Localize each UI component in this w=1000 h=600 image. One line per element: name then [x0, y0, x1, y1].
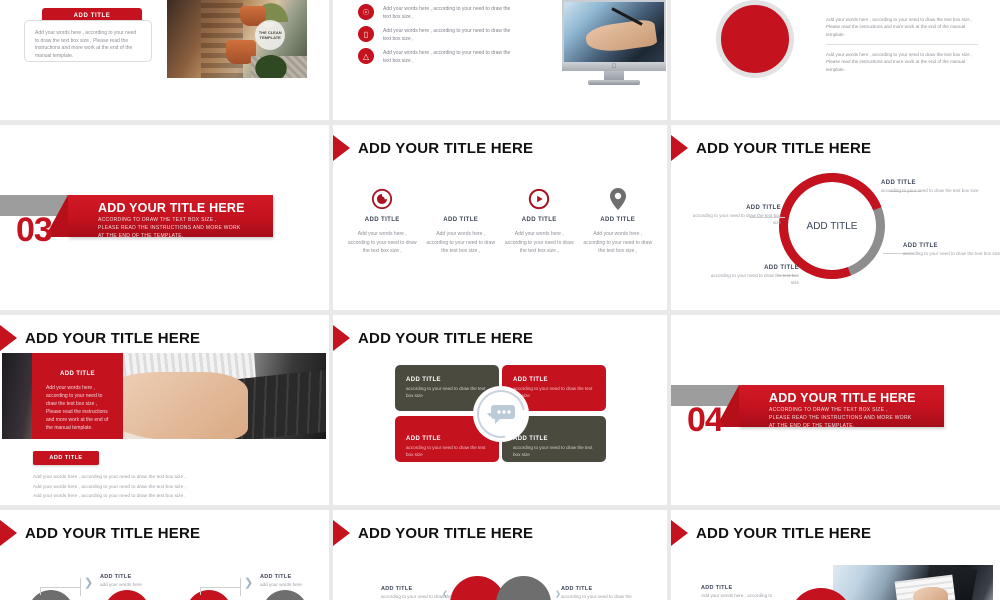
connector-drop-2	[200, 587, 201, 595]
slide-heading: ADD YOUR TITLE HERE	[333, 325, 533, 351]
feature-title-3: ADD TITLE	[522, 217, 557, 223]
feature-body-2: Add your words here , according to your …	[426, 230, 497, 256]
callout-title: ADD TITLE	[689, 205, 781, 211]
center-hub	[473, 386, 529, 442]
globe-icon	[371, 185, 393, 213]
left-caption: ADD TITLE according to your need to draw…	[381, 586, 459, 600]
right-caption: ADD TITLE according to your need to draw…	[561, 586, 639, 600]
step-node-2	[104, 590, 150, 600]
callout-left: ADD TITLE according to your need to draw…	[689, 205, 781, 227]
box-title: ADD TITLE	[513, 436, 595, 442]
slide-thumbnail-r4c1[interactable]: ADD YOUR TITLE HERE ❯ ADD TITLE add your…	[0, 510, 329, 600]
red-triangle-icon	[671, 135, 688, 161]
box-body: according to your need to draw the text …	[513, 386, 595, 400]
feature-column-4: ADD TITLE Add your words here , accordin…	[579, 185, 658, 256]
add-title-button[interactable]: ADD TITLE	[33, 451, 99, 465]
slide-thumbnail-r3c1[interactable]: ADD YOUR TITLE HERE ADD TITLE Add your w…	[0, 315, 329, 505]
callout-bottom-left: ADD TITLE according to your need to draw…	[707, 265, 799, 287]
box-title: ADD TITLE	[513, 377, 595, 383]
bullet-item-3: △ Add your words here , according to you…	[358, 48, 515, 65]
step-caption-1: ADD TITLE add your words here	[100, 574, 180, 589]
cloud-icon: △	[358, 48, 374, 64]
slide-thumbnail-r4c3[interactable]: ADD YOUR TITLE HERE ADD TITLE Add your w…	[671, 510, 1000, 600]
red-triangle-icon	[0, 325, 17, 351]
slide-heading: ADD YOUR TITLE HERE	[0, 325, 200, 351]
slide-thumbnail-r1c2[interactable]: ☉ Add your words here , according to you…	[333, 0, 667, 120]
feature-title-1: ADD TITLE	[365, 217, 400, 223]
connector-riser-2	[240, 578, 241, 596]
step-node-1	[28, 590, 74, 600]
quadrant-diagram: ADD TITLE according to your need to draw…	[395, 365, 606, 462]
step-node-3	[186, 590, 232, 600]
heading-text: ADD YOUR TITLE HERE	[25, 525, 200, 542]
red-triangle-icon	[0, 520, 17, 546]
box-title: ADD TITLE	[406, 436, 488, 442]
map-pin-icon	[608, 185, 628, 213]
connector-drop-1	[40, 587, 41, 595]
heading-text: ADD YOUR TITLE HERE	[358, 330, 533, 347]
paragraph-2: Add your words here , according to your …	[826, 51, 978, 73]
slide-thumbnail-r3c2[interactable]: ADD YOUR TITLE HERE ADD TITLE according …	[333, 315, 667, 505]
slide-thumbnail-r2c2[interactable]: ADD YOUR TITLE HERE ADD TITLE Add your w…	[333, 125, 667, 310]
feature-column-1: ADD TITLE Add your words here , accordin…	[343, 185, 422, 256]
callout-body: according to your need to draw the text …	[881, 188, 981, 195]
monitor-screen	[562, 0, 666, 62]
slide-heading: ADD YOUR TITLE HERE	[671, 135, 871, 161]
callout-title: ADD TITLE	[903, 243, 1000, 249]
right-body: according to your need to draw the text …	[561, 594, 639, 600]
left-title: ADD TITLE	[381, 586, 459, 592]
ring-diagram: ADD TITLE	[779, 173, 885, 279]
slide-thumbnail-grid: ADD TITLE Add your words here , accordin…	[0, 0, 1000, 600]
red-triangle-icon	[333, 325, 350, 351]
slide-thumbnail-r2c1[interactable]: ADD YOUR TITLE HERE ACCORDING TO DRAW TH…	[0, 125, 329, 310]
slide-thumbnail-r1c1[interactable]: ADD TITLE Add your words here , accordin…	[0, 0, 329, 120]
callout-top-right: ADD TITLE according to your need to draw…	[881, 180, 981, 195]
left-body: according to your need to draw the text …	[381, 594, 459, 600]
mobile-phone-icon: ▯	[358, 26, 374, 42]
box-body: according to your need to draw the text …	[513, 445, 595, 459]
monitor-chin: 	[562, 62, 666, 71]
connector-line-1	[40, 587, 80, 588]
callout-right: ADD TITLE according to your need to draw…	[903, 243, 1000, 258]
callout-title: ADD TITLE	[707, 265, 799, 271]
red-banner: ADD YOUR TITLE HERE ACCORDING TO DRAW TH…	[68, 195, 273, 237]
section-banner: ADD YOUR TITLE HERE ACCORDING TO DRAW TH…	[671, 375, 1000, 437]
connector-riser-1	[80, 578, 81, 596]
location-pin-icon: ☉	[358, 4, 374, 20]
text-block: ADD TITLE Add your words here , accordin…	[701, 585, 811, 600]
box-body: according to your need to draw the text …	[406, 445, 488, 459]
big-circle-right	[496, 576, 551, 600]
box-body: according to your need to draw the text …	[406, 386, 488, 400]
heading-text: ADD YOUR TITLE HERE	[696, 525, 871, 542]
feature-title-4: ADD TITLE	[600, 217, 635, 223]
feature-body-4: Add your words here , according to your …	[583, 230, 654, 256]
photo-watermark-badge: THE CLEAN TEMPLATE	[255, 20, 285, 50]
paragraph-1: Add your words here , according to your …	[826, 16, 978, 38]
callout-body: according to your need to draw the text …	[707, 273, 799, 287]
banner-subtitle: ACCORDING TO DRAW THE TEXT BOX SIZE , PL…	[98, 217, 241, 240]
red-overlay-card: ADD TITLE Add your words here , accordin…	[32, 353, 123, 439]
heading-text: ADD YOUR TITLE HERE	[25, 330, 200, 347]
slide-heading: ADD YOUR TITLE HERE	[0, 520, 200, 546]
section-banner: ADD YOUR TITLE HERE ACCORDING TO DRAW TH…	[0, 185, 329, 247]
feature-body-1: Add your words here , according to your …	[347, 230, 418, 256]
step-body-1: add your words here	[100, 582, 180, 589]
heading-text: ADD YOUR TITLE HERE	[696, 140, 871, 157]
block-body: Add your words here , according to	[701, 593, 811, 600]
hand-with-pen	[913, 587, 948, 600]
bullet-item-1: ☉ Add your words here , according to you…	[358, 4, 515, 21]
imac-mockup: 	[562, 0, 666, 86]
step-node-4	[262, 590, 308, 600]
callout-body: according to your need to draw the text …	[903, 251, 1000, 258]
heading-text: ADD YOUR TITLE HERE	[358, 140, 533, 157]
heading-text: ADD YOUR TITLE HERE	[358, 525, 533, 542]
red-triangle-icon	[333, 520, 350, 546]
overlay-title: ADD TITLE	[46, 371, 109, 377]
section-number: 04	[687, 401, 723, 440]
chevron-right-icon: ❯	[244, 576, 253, 589]
business-meeting-photo	[833, 565, 993, 600]
box-title: ADD TITLE	[406, 377, 488, 383]
step-caption-2: ADD TITLE add your words here	[260, 574, 329, 589]
hand-writing	[584, 18, 657, 54]
feature-body-3: Add your words here , according to your …	[504, 230, 575, 256]
street-photo: THE CLEAN TEMPLATE	[167, 0, 307, 78]
slide-thumbnail-r3c3[interactable]: ADD YOUR TITLE HERE ACCORDING TO DRAW TH…	[671, 315, 1000, 505]
connector-line-2	[200, 587, 240, 588]
red-banner: ADD YOUR TITLE HERE ACCORDING TO DRAW TH…	[739, 385, 944, 427]
bullet-text-2: Add your words here , according to your …	[383, 26, 515, 43]
green-bush	[254, 54, 288, 78]
feature-column-2: ADD TITLE Add your words here , accordin…	[422, 185, 501, 256]
chevron-right-icon: ❯	[555, 590, 561, 598]
body-line-2: Add your words here , according to your …	[33, 483, 186, 493]
body-line-1: Add your words here , according to your …	[33, 473, 186, 483]
slide-heading: ADD YOUR TITLE HERE	[333, 135, 533, 161]
text-card: Add your words here , according to your …	[24, 20, 152, 62]
chevron-right-icon: ❯	[84, 576, 93, 589]
slide-thumbnail-r1c3[interactable]: Add your words here , according to your …	[671, 0, 1000, 120]
bullet-text-1: Add your words here , according to your …	[383, 4, 515, 21]
monitor-stand-neck	[604, 71, 624, 80]
paragraph-group: Add your words here , according to your …	[826, 16, 978, 73]
step-title-2: ADD TITLE	[260, 574, 329, 580]
feature-columns: ADD TITLE Add your words here , accordin…	[343, 185, 657, 256]
red-triangle-icon	[333, 135, 350, 161]
callout-title: ADD TITLE	[881, 180, 981, 186]
callout-body: according to your need to draw the text …	[689, 213, 781, 227]
divider	[826, 44, 978, 45]
red-circle-graphic	[716, 0, 794, 78]
step-body-2: add your words here	[260, 582, 329, 589]
step-title-1: ADD TITLE	[100, 574, 180, 580]
feature-title-2: ADD TITLE	[443, 217, 478, 223]
bullet-text-3: Add your words here , according to your …	[383, 48, 515, 65]
red-triangle-icon	[671, 520, 688, 546]
banner-subtitle: ACCORDING TO DRAW THE TEXT BOX SIZE , PL…	[769, 407, 912, 430]
overlay-body: Add your words here , according to your …	[46, 384, 109, 432]
bullet-item-2: ▯ Add your words here , according to you…	[358, 26, 515, 43]
banner-title: ADD YOUR TITLE HERE	[769, 391, 916, 405]
slide-heading: ADD YOUR TITLE HERE	[333, 520, 533, 546]
play-circle-icon	[528, 185, 550, 213]
feature-column-3: ADD TITLE Add your words here , accordin…	[500, 185, 579, 256]
slide-thumbnail-r2c3[interactable]: ADD YOUR TITLE HERE ADD TITLE ADD TITLE …	[671, 125, 1000, 310]
body-line-3: Add your words here , according to your …	[33, 492, 186, 502]
ring-center-label: ADD TITLE	[779, 173, 885, 279]
body-line-group: Add your words here , according to your …	[33, 473, 186, 502]
slide-heading: ADD YOUR TITLE HERE	[671, 520, 871, 546]
section-number: 03	[16, 211, 52, 250]
block-title: ADD TITLE	[701, 585, 811, 591]
right-title: ADD TITLE	[561, 586, 639, 592]
monitor-stand-base	[588, 80, 640, 85]
banner-title: ADD YOUR TITLE HERE	[98, 201, 245, 215]
brick-wall-texture	[201, 0, 243, 78]
card-body-text: Add your words here , according to your …	[35, 30, 141, 60]
slide-thumbnail-r4c2[interactable]: ADD YOUR TITLE HERE ❮ ❯ ADD TITLE accord…	[333, 510, 667, 600]
